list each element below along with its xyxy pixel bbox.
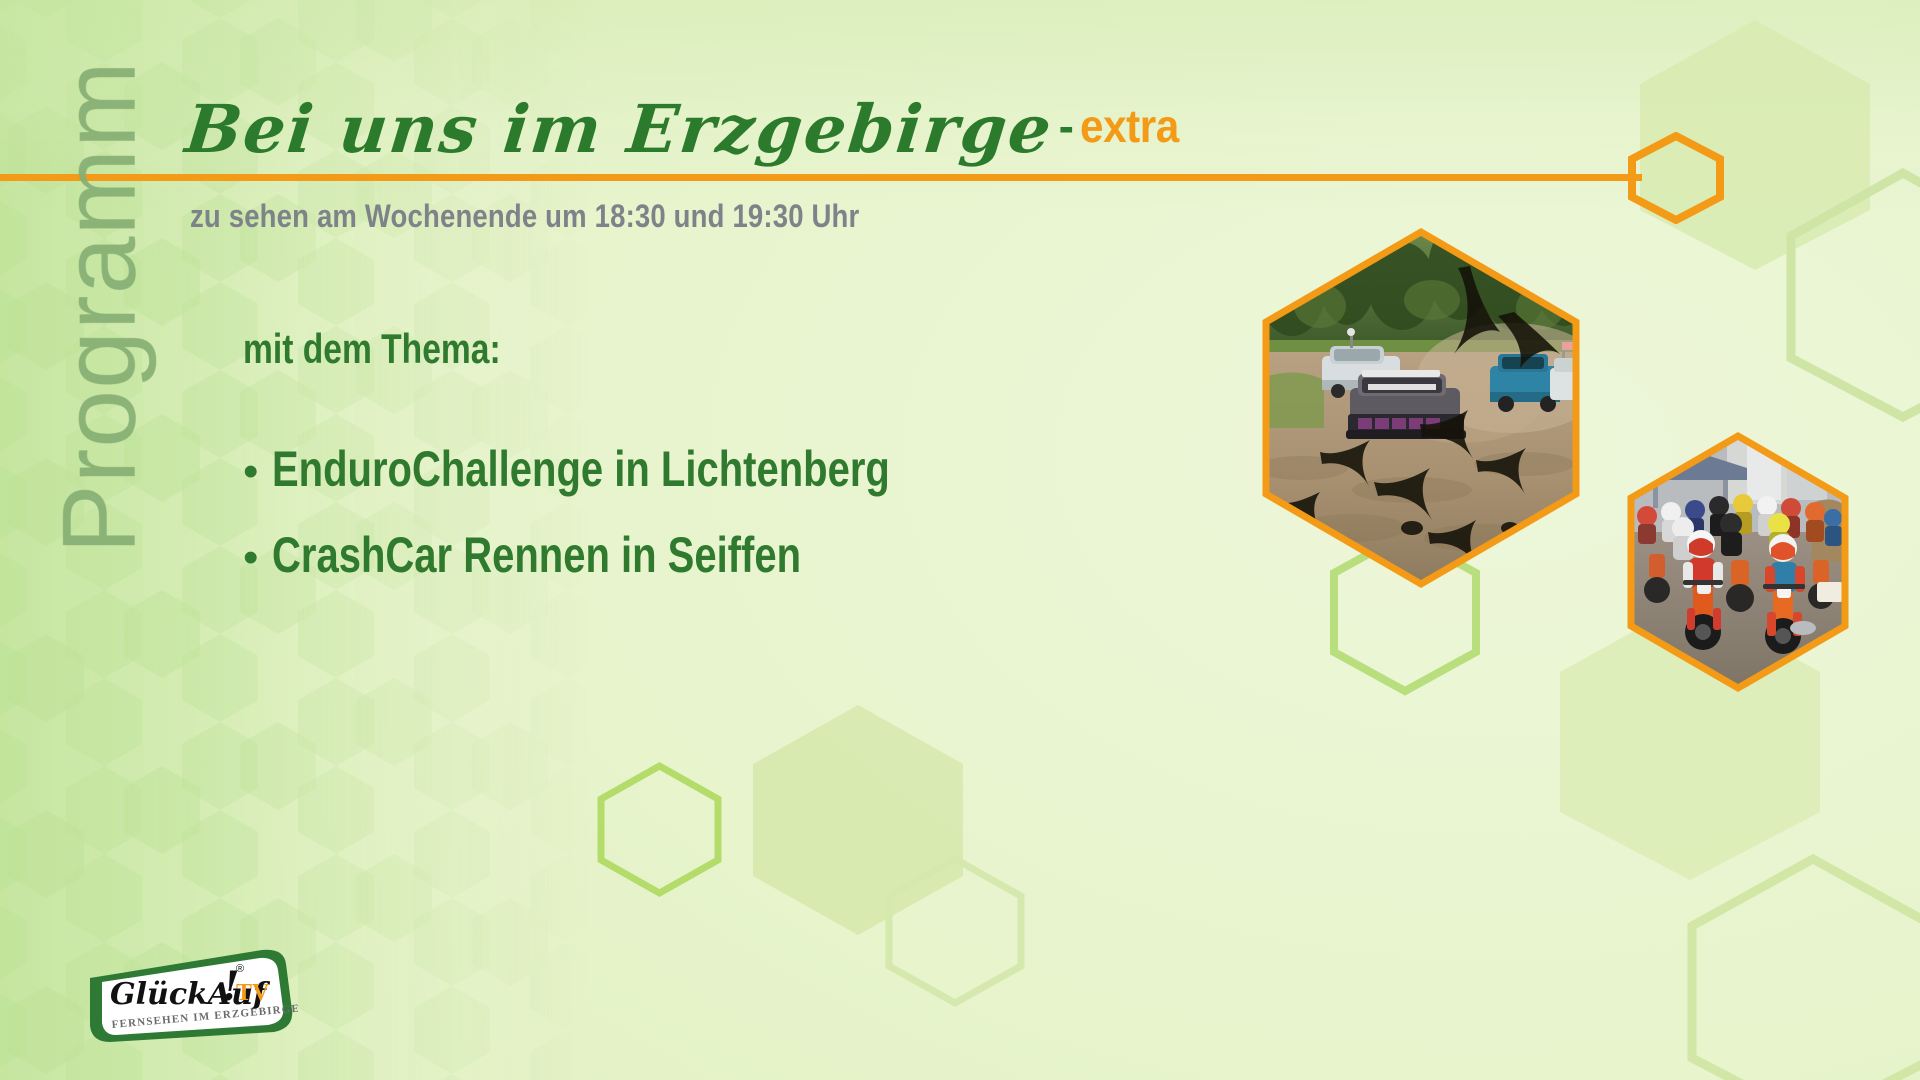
deco-hexagon-outline-top-right — [1788, 170, 1920, 420]
page-title: Bei uns im Erzgebirge-extra — [186, 96, 1187, 162]
bullet-icon: • — [243, 450, 258, 494]
broadcast-slide: Bei uns im Erzgebirge-extra zu sehen am … — [0, 0, 1920, 1080]
list-item: • EnduroChallenge in Lichtenberg — [243, 440, 1045, 498]
header-divider-hexagon-icon — [1628, 132, 1724, 224]
deco-hexagon-outline-bottom-left — [597, 762, 722, 897]
enduro-photo — [1627, 432, 1849, 692]
topic-label: CrashCar Rennen in Seiffen — [272, 526, 801, 584]
broadcast-times: zu sehen am Wochenende um 18:30 und 19:3… — [190, 198, 859, 235]
topic-list: • EnduroChallenge in Lichtenberg • Crash… — [243, 440, 1045, 612]
header-divider-rule — [0, 174, 1642, 181]
logo-suffix: TV — [236, 980, 270, 1006]
deco-hexagon-outline-bottom-center — [885, 855, 1025, 1007]
bullet-icon: • — [243, 536, 258, 580]
page-title-accent: extra — [1080, 103, 1179, 149]
channel-logo: GlückAuf ! ® TV FERNSEHEN IM ERZGEBIRGE — [86, 948, 298, 1044]
page-title-script: Bei uns im Erzgebirge — [183, 96, 1057, 162]
list-item: • CrashCar Rennen in Seiffen — [243, 526, 1045, 584]
page-title-dash: - — [1053, 103, 1080, 149]
logo-registered: ® — [236, 963, 244, 975]
topic-intro: mit dem Thema: — [243, 325, 501, 373]
deco-hexagon-outline-bottom-right — [1688, 855, 1920, 1080]
topic-label: EnduroChallenge in Lichtenberg — [272, 440, 890, 498]
crashcar-photo — [1262, 228, 1580, 588]
